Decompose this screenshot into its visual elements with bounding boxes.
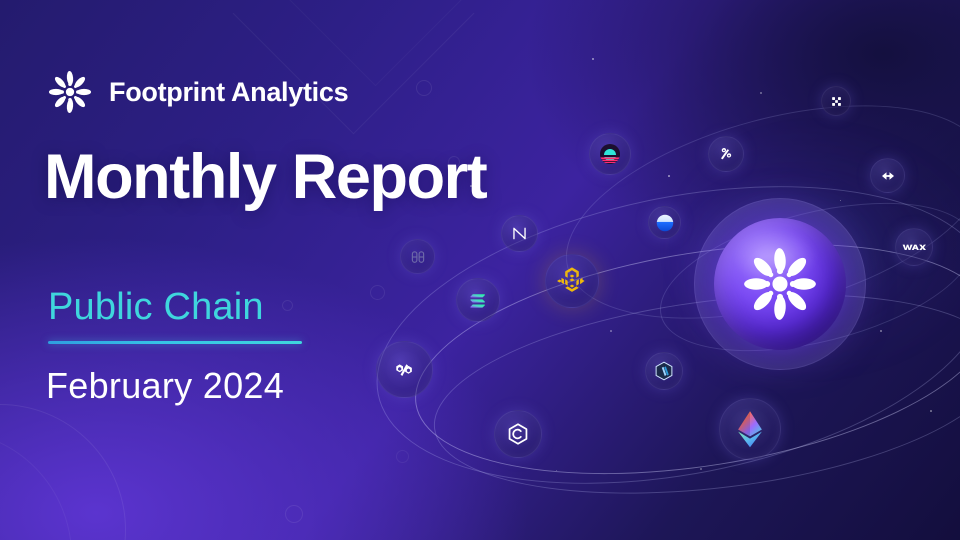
star-decor <box>610 330 612 332</box>
chain-node-wax[interactable] <box>895 228 933 266</box>
chain-node-near[interactable] <box>501 215 538 252</box>
planet-core <box>714 218 846 350</box>
footprint-logo <box>44 66 96 118</box>
star-decor <box>760 92 762 94</box>
ring-decor-a <box>416 80 432 96</box>
star-decor <box>880 330 882 332</box>
ring-decor-e <box>282 300 293 311</box>
sei-icon <box>598 142 622 166</box>
oasys-icon <box>409 248 427 266</box>
arbitrum-icon <box>653 360 675 382</box>
near-icon <box>510 224 529 243</box>
ethereum-icon <box>735 410 765 448</box>
footprint-flower-icon <box>734 238 826 330</box>
footprint-flower-icon <box>44 66 96 118</box>
chain-node-sei[interactable] <box>589 133 631 175</box>
bnb-icon <box>555 264 589 298</box>
chain-node-solana[interactable] <box>456 278 500 322</box>
chain-node-aptos[interactable] <box>708 136 744 172</box>
wax-icon <box>902 240 926 254</box>
report-cover: Footprint Analytics Monthly Report Publi… <box>0 0 960 540</box>
title-divider <box>48 341 302 344</box>
chain-node-base[interactable] <box>648 206 681 239</box>
orbit-ring-lower <box>423 266 960 522</box>
circle-outline-decor-2 <box>0 430 72 540</box>
page-title: Monthly Report <box>44 146 486 209</box>
chain-node-polygon[interactable] <box>376 341 433 398</box>
chain-node-bnb-chain[interactable] <box>545 254 599 308</box>
star-decor <box>668 175 670 177</box>
brand-name: Footprint Analytics <box>109 77 348 108</box>
chain-node-arbitrum[interactable] <box>645 352 683 390</box>
star-decor <box>930 410 932 412</box>
ring-decor-c <box>370 285 385 300</box>
footprint-planet <box>694 198 866 370</box>
star-decor <box>592 58 594 60</box>
report-date: February 2024 <box>46 368 284 404</box>
star-decor <box>700 468 702 470</box>
chain-node-oasys[interactable] <box>400 239 435 274</box>
base-icon <box>654 212 676 234</box>
immutable-x-icon <box>829 94 844 109</box>
aptos-icon <box>717 145 735 163</box>
ring-decor-f <box>396 450 409 463</box>
star-decor <box>556 470 557 471</box>
report-category: Public Chain <box>48 288 264 326</box>
chain-node-ethereum[interactable] <box>719 398 781 460</box>
polygon-icon <box>390 355 420 385</box>
chain-node-conflux[interactable] <box>494 410 542 458</box>
brand-lockup: Footprint Analytics <box>44 66 348 118</box>
circle-outline-decor <box>0 404 126 540</box>
chain-node-immutable-x[interactable] <box>821 86 851 116</box>
chain-node-arbitrum-nova[interactable] <box>870 158 905 193</box>
conflux-icon <box>505 421 531 447</box>
ring-decor-d <box>285 505 303 523</box>
solana-icon <box>466 288 490 312</box>
swap-arrows-icon <box>879 167 897 185</box>
